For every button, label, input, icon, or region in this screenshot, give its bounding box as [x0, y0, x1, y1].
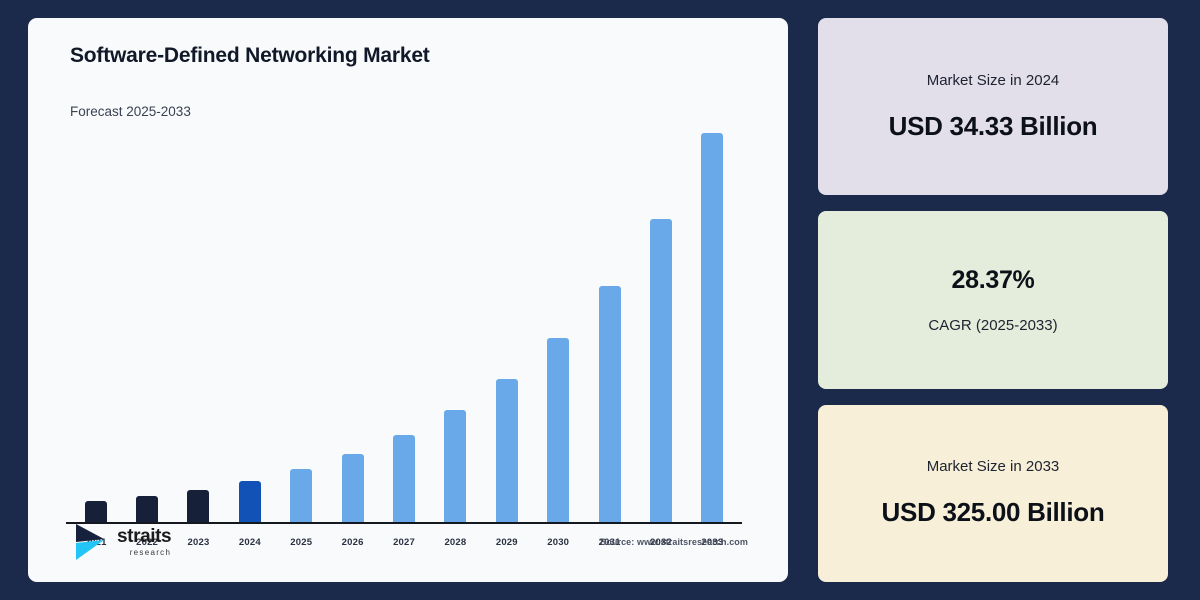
- card-value-cagr: 28.37%: [952, 266, 1035, 295]
- bar-slot: [481, 133, 532, 522]
- bar-slot: [327, 133, 378, 522]
- bar-2033[interactable]: [701, 133, 723, 522]
- logo-text: straits research: [117, 527, 171, 557]
- card-label-cagr: CAGR (2025-2033): [928, 317, 1057, 334]
- chart-panel: Software-Defined Networking Market Forec…: [28, 18, 788, 582]
- card-label-market-size-2024: Market Size in 2024: [927, 72, 1060, 89]
- chart-footer: straits research Source: www.straitsrese…: [74, 516, 748, 568]
- bar-2031[interactable]: [599, 286, 621, 522]
- card-market-size-2033: Market Size in 2033USD 325.00 Billion: [818, 405, 1168, 582]
- bar-2028[interactable]: [444, 410, 466, 522]
- card-cagr: 28.37%CAGR (2025-2033): [818, 211, 1168, 388]
- bar-slot: [121, 133, 172, 522]
- page-title: Software-Defined Networking Market: [70, 44, 760, 68]
- bar-slot: [430, 133, 481, 522]
- chart-subtitle: Forecast 2025-2033: [70, 104, 760, 119]
- bar-2030[interactable]: [547, 338, 569, 522]
- bar-2026[interactable]: [342, 454, 364, 522]
- chevron-arrow-icon: [74, 522, 110, 562]
- bar-chart: [70, 133, 738, 522]
- stat-cards: Market Size in 2024USD 34.33 Billion28.3…: [818, 18, 1168, 582]
- bar-slot: [70, 133, 121, 522]
- card-label-market-size-2033: Market Size in 2033: [927, 458, 1060, 475]
- plot-area: 2021202220232024202520262027202820292030…: [70, 133, 738, 568]
- card-value-market-size-2024: USD 34.33 Billion: [889, 111, 1098, 142]
- infographic-root: Software-Defined Networking Market Forec…: [0, 0, 1200, 600]
- logo-name: straits: [117, 527, 171, 546]
- bar-slot: [533, 133, 584, 522]
- straits-research-logo: straits research: [74, 522, 171, 562]
- bar-slot: [173, 133, 224, 522]
- source-attribution: Source: www.straitsresearch.com: [600, 537, 748, 547]
- bar-2029[interactable]: [496, 379, 518, 522]
- bar-slot: [584, 133, 635, 522]
- bar-slot: [378, 133, 429, 522]
- card-value-market-size-2033: USD 325.00 Billion: [882, 497, 1105, 528]
- bar-slot: [687, 133, 738, 522]
- bar-2032[interactable]: [650, 219, 672, 522]
- card-market-size-2024: Market Size in 2024USD 34.33 Billion: [818, 18, 1168, 195]
- bar-slot: [276, 133, 327, 522]
- bar-2025[interactable]: [290, 469, 312, 522]
- bar-slot: [224, 133, 275, 522]
- logo-tagline: research: [130, 549, 172, 557]
- bar-2027[interactable]: [393, 435, 415, 522]
- bar-slot: [635, 133, 686, 522]
- bar-series: [70, 133, 738, 522]
